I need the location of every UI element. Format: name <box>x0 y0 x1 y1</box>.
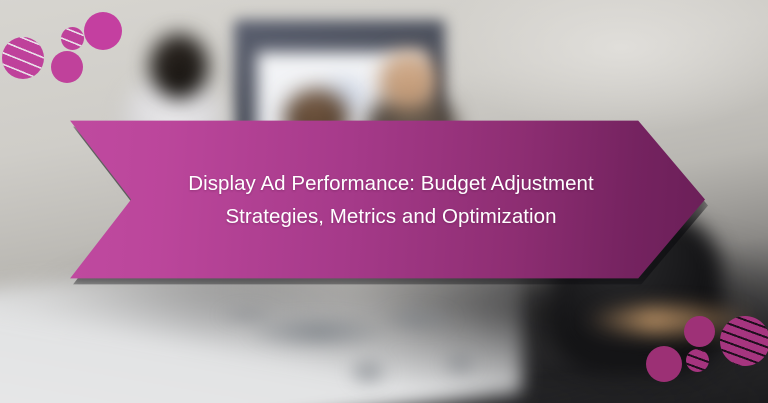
stripe-pattern <box>2 37 44 79</box>
stripe-pattern <box>61 27 84 50</box>
ribbon-shape: Display Ad Performance: Budget Adjustmen… <box>63 118 705 281</box>
circle-small-striped-bottom-right <box>686 349 709 372</box>
background-documents <box>184 290 537 395</box>
circle-small-striped-top-left <box>61 27 84 50</box>
circle-large-striped-bottom-right <box>720 316 768 366</box>
stripe-pattern <box>720 316 768 366</box>
page-title: Display Ad Performance: Budget Adjustmen… <box>127 167 641 233</box>
title-ribbon: Display Ad Performance: Budget Adjustmen… <box>63 118 705 281</box>
background-person-left-head <box>150 34 208 98</box>
circle-large-striped-top-left <box>2 37 44 79</box>
banner-canvas: Display Ad Performance: Budget Adjustmen… <box>0 0 768 403</box>
stripe-pattern <box>686 349 709 372</box>
circle-medium-lower-bottom-right <box>646 346 682 382</box>
circle-medium-upper-bottom-right <box>684 316 715 347</box>
background-person-right-head <box>380 52 437 108</box>
circle-medium-plain-top-left <box>51 51 83 83</box>
circle-medium-upper-top-left <box>84 12 122 50</box>
